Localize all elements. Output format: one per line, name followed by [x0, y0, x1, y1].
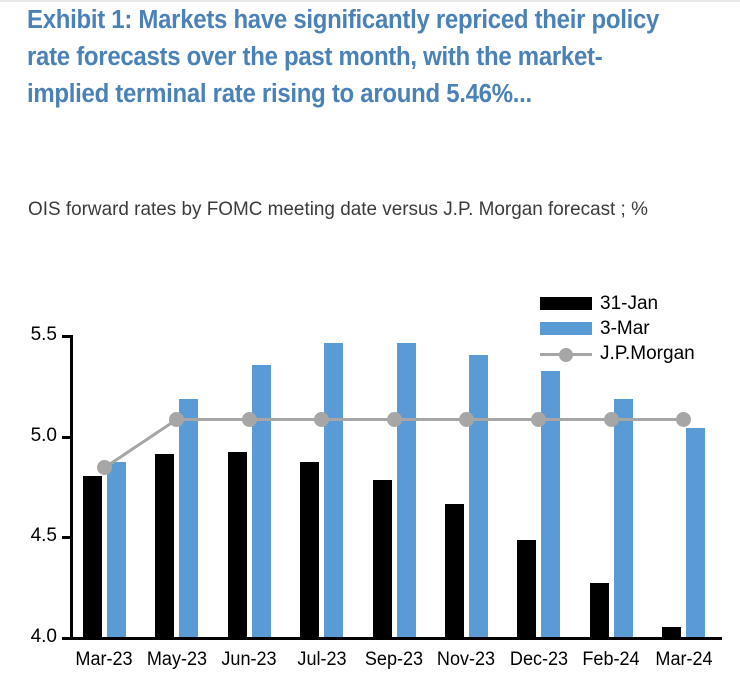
bar-31-jan-may-23 [155, 454, 174, 637]
legend-swatch-3-mar [540, 322, 592, 335]
jp-morgan-marker-feb-24 [604, 412, 619, 427]
chart-page: Exhibit 1: Markets have significantly re… [0, 0, 740, 684]
y-axis-tick [62, 536, 71, 539]
x-axis-line [70, 637, 722, 640]
jp-morgan-marker-nov-23 [459, 412, 474, 427]
y-axis-tick [62, 436, 71, 439]
y-axis-tick [62, 637, 71, 640]
bar-31-jan-feb-24 [590, 583, 609, 637]
bar-31-jan-jul-23 [300, 462, 319, 637]
bar-31-jan-jun-23 [228, 452, 247, 637]
bar-31-jan-nov-23 [445, 504, 464, 637]
bar-3-mar-feb-24 [614, 399, 633, 637]
legend-item-jp-morgan[interactable]: J.P.Morgan [540, 341, 740, 366]
legend-circle-marker-icon [559, 348, 573, 362]
bar-3-mar-mar-23 [107, 462, 126, 637]
legend-swatch-31-jan [540, 297, 592, 310]
bar-3-mar-jul-23 [324, 343, 343, 637]
legend-label-3-mar: 3-Mar [600, 319, 650, 338]
jp-morgan-marker-mar-24 [676, 412, 691, 427]
bar-31-jan-mar-24 [662, 627, 681, 637]
bar-31-jan-mar-23 [83, 476, 102, 637]
y-axis-tick-label: 4.5 [2, 525, 57, 547]
y-axis-tick [62, 335, 71, 338]
legend-label-31-jan: 31-Jan [600, 294, 658, 313]
bar-31-jan-sep-23 [373, 480, 392, 637]
jp-morgan-marker-jul-23 [314, 412, 329, 427]
y-axis-tick-label: 4.0 [2, 626, 57, 648]
bar-3-mar-nov-23 [469, 355, 488, 637]
bar-3-mar-dec-23 [541, 371, 560, 637]
bar-31-jan-dec-23 [517, 540, 536, 637]
chart-legend: 31-Jan 3-Mar J.P.Morgan [540, 291, 740, 366]
bar-3-mar-sep-23 [397, 343, 416, 637]
x-axis-tick-label-mar-24: Mar-24 [641, 649, 727, 671]
jp-morgan-marker-sep-23 [387, 412, 402, 427]
y-axis-tick-label: 5.0 [2, 425, 57, 447]
legend-item-3-mar[interactable]: 3-Mar [540, 316, 740, 341]
bar-3-mar-may-23 [179, 399, 198, 637]
legend-line-marker-icon [540, 346, 592, 362]
legend-item-31-jan[interactable]: 31-Jan [540, 291, 740, 316]
bar-3-mar-jun-23 [252, 365, 271, 637]
legend-label-jp-morgan: J.P.Morgan [600, 344, 695, 363]
y-axis-tick-label: 5.5 [2, 324, 57, 346]
bar-3-mar-mar-24 [686, 428, 705, 637]
jp-morgan-marker-jun-23 [242, 412, 257, 427]
y-axis-line [70, 335, 73, 640]
